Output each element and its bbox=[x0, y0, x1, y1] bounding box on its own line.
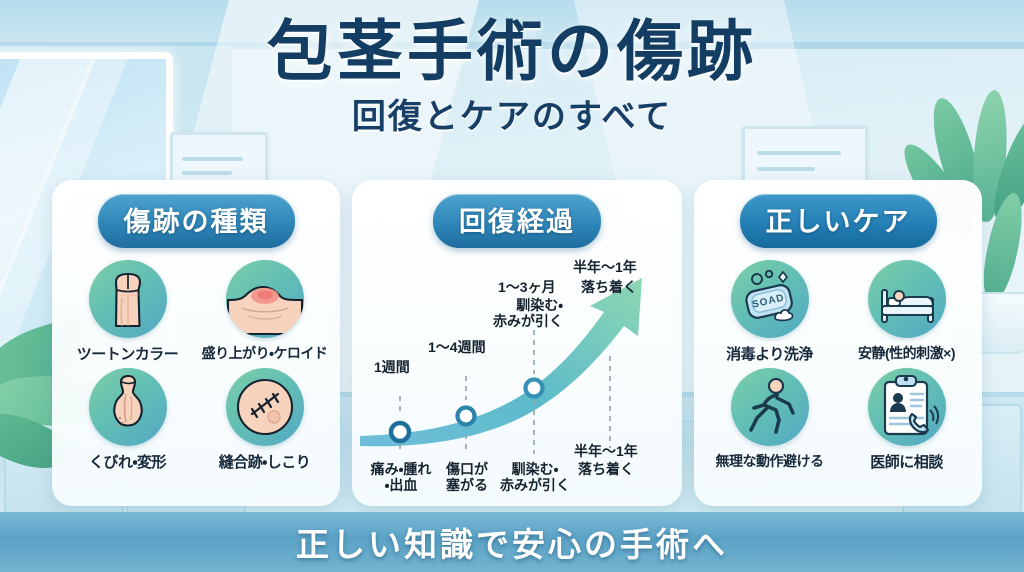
scar-type-label: 盛り上がり・ケロイド bbox=[202, 343, 328, 363]
clipboard-phone-icon bbox=[868, 368, 946, 446]
bottom-banner: 正しい知識で安心の手術へ bbox=[0, 512, 1024, 572]
timeline-detail-1: 痛み・腫れ ・出血 bbox=[362, 462, 440, 493]
deformity-icon bbox=[89, 368, 167, 446]
page-title: 包茎手術の傷跡 bbox=[0, 16, 1024, 87]
keloid-bump-icon bbox=[226, 260, 304, 338]
timeline-lower-right-note: 半年〜1年 bbox=[574, 444, 638, 460]
bed-rest-icon bbox=[868, 260, 946, 338]
timeline-time-2: 1〜4週間 bbox=[428, 340, 486, 356]
running-person-icon bbox=[731, 368, 809, 446]
panel-correct-care: 正しいケア SOAD 消毒より洗浄 bbox=[694, 180, 982, 506]
detail-2-line2: 塞がる bbox=[446, 477, 488, 493]
scar-type-label: ツートンカラー bbox=[77, 343, 179, 364]
detail-1-line1: 痛み・腫れ bbox=[371, 461, 432, 477]
suture-lump-icon bbox=[226, 368, 304, 446]
care-label: 医師に相談 bbox=[870, 451, 943, 472]
panel-scar-types: 傷跡の種類 ツートンカラー bbox=[52, 180, 340, 506]
care-label: 無理な動作避ける bbox=[716, 451, 824, 471]
panel-recovery-timeline: 回復経過 bbox=[352, 180, 682, 506]
timeline-time-1: 1週間 bbox=[374, 360, 410, 376]
scar-type-grid: ツートンカラー 盛り上がり・ケロイド bbox=[52, 260, 340, 472]
infographic-root: 包茎手術の傷跡 回復とケアのすべて 傷跡の種類 ツートンカラー bbox=[0, 0, 1024, 572]
detail-3-line1: 馴染む・ bbox=[512, 461, 559, 477]
upper-note-3-line1: 馴染む・ bbox=[516, 297, 563, 313]
scar-type-item[interactable]: くびれ・変形 bbox=[60, 368, 195, 472]
timeline-detail-2: 傷口が 塞がる bbox=[440, 462, 494, 493]
page-subtitle: 回復とケアのすべて bbox=[0, 89, 1024, 138]
care-item[interactable]: 医師に相談 bbox=[839, 368, 974, 472]
panel-heading-recovery: 回復経過 bbox=[433, 194, 601, 248]
detail-2-line1: 傷口が bbox=[446, 461, 488, 477]
banner-text: 正しい知識で安心の手術へ bbox=[296, 518, 728, 566]
timeline-time-4: 半年〜1年 bbox=[573, 260, 637, 276]
recovery-timeline: 1週間 1〜4週間 1〜3ヶ月 半年〜1年 馴染む・ 赤みが引く 落ち着く 半年… bbox=[352, 248, 682, 506]
care-item[interactable]: SOAD 消毒より洗浄 bbox=[702, 260, 837, 364]
timeline-upper-note-3: 馴染む・ 赤みが引く bbox=[493, 298, 563, 329]
penis-twotone-icon bbox=[89, 260, 167, 338]
upper-note-3-line2: 赤みが引く bbox=[493, 313, 563, 329]
detail-1-line2: ・出血 bbox=[385, 477, 418, 493]
care-item[interactable]: 無理な動作避ける bbox=[702, 368, 837, 472]
detail-3-line2: 赤みが引く bbox=[500, 477, 570, 493]
timeline-detail-3: 馴染む・ 赤みが引く bbox=[498, 462, 572, 493]
soap-icon: SOAD bbox=[731, 260, 809, 338]
scar-type-item[interactable]: 縫合跡・しこり bbox=[197, 368, 332, 472]
scar-type-item[interactable]: 盛り上がり・ケロイド bbox=[197, 260, 332, 364]
care-label: 安静(性的刺激×) bbox=[858, 343, 955, 363]
care-grid: SOAD 消毒より洗浄 安静(性的刺 bbox=[694, 260, 982, 472]
care-label: 消毒より洗浄 bbox=[726, 343, 813, 364]
panel-heading-care: 正しいケア bbox=[740, 194, 937, 248]
panel-heading-scar-types: 傷跡の種類 bbox=[98, 194, 295, 248]
scar-type-label: くびれ・変形 bbox=[89, 451, 166, 472]
timeline-detail-4: 落ち着く bbox=[578, 462, 634, 478]
timeline-time-3: 1〜3ヶ月 bbox=[498, 280, 556, 296]
care-item[interactable]: 安静(性的刺激×) bbox=[839, 260, 974, 364]
scar-type-label: 縫合跡・しこり bbox=[219, 451, 311, 472]
scar-type-item[interactable]: ツートンカラー bbox=[60, 260, 195, 364]
title-block: 包茎手術の傷跡 回復とケアのすべて bbox=[0, 16, 1024, 138]
timeline-upper-note-4: 落ち着く bbox=[581, 280, 637, 296]
